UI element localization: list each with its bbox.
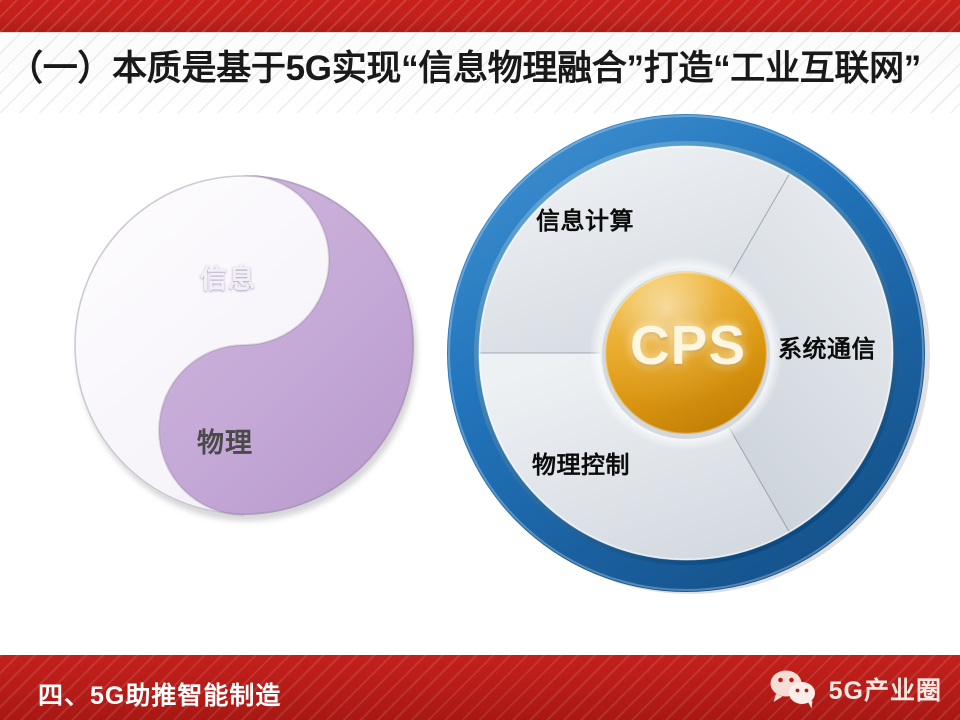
taiji-label-physical: 物理 (197, 421, 253, 460)
brand-name-label: 5G产业圈 (829, 671, 942, 707)
cps-segment-label-compute: 信息计算 (536, 201, 634, 236)
taiji-svg (72, 175, 420, 523)
cps-core-label: CPS (598, 313, 778, 377)
cps-wheel-diagram: CPS 信息计算 系统通信 物理控制 (440, 107, 936, 603)
taiji-label-information: 信息 (200, 257, 256, 296)
slide-root: （一）本质是基于5G实现“信息物理融合”打造“工业互联网” (0, 0, 960, 720)
page-title: （一）本质是基于5G实现“信息物理融合”打造“工业互联网” (8, 38, 956, 100)
footer-section-title: 四、5G助推智能制造 (38, 676, 281, 712)
top-accent-bar (0, 0, 960, 32)
cps-segment-label-communication: 系统通信 (778, 329, 876, 364)
cps-segment-label-control: 物理控制 (532, 445, 630, 480)
wechat-icon (767, 668, 821, 710)
slide-canvas: 信息 物理 (0, 113, 960, 655)
brand-group: 5G产业圈 (767, 668, 942, 710)
taiji-diagram: 信息 物理 (72, 175, 420, 523)
